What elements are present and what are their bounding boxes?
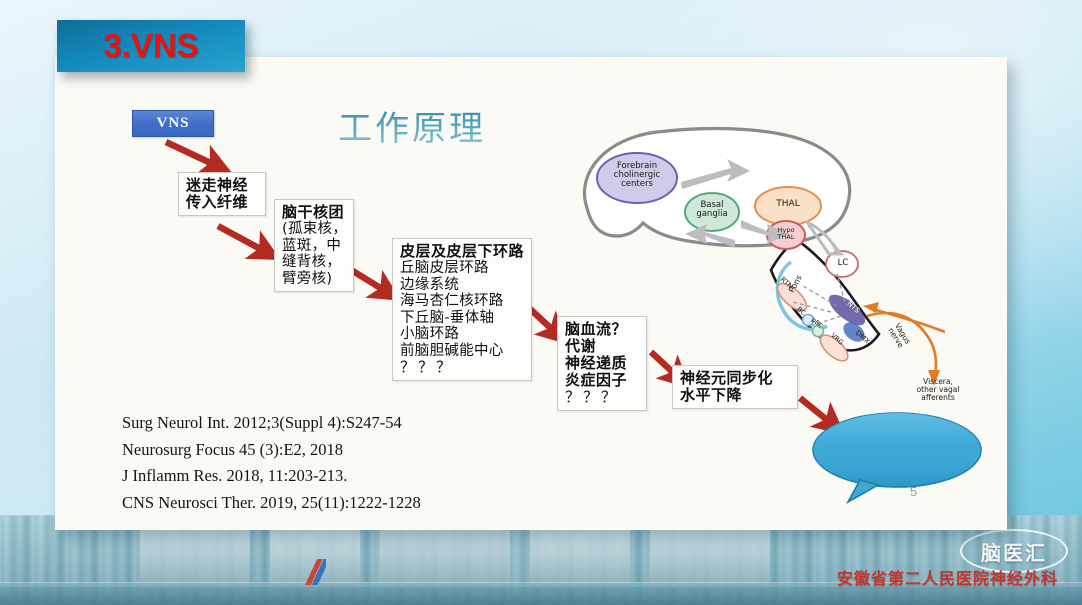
box-line: ？？？: [565, 389, 639, 406]
box-neuronal-synchrony[interactable]: 神经元同步化 水平下降: [672, 365, 798, 409]
flag-icon: [300, 559, 326, 585]
section-tab-label: 3.VNS: [103, 27, 198, 65]
box-brainstem-nuclei[interactable]: 脑干核团 (孤束核， 蓝斑，中 缝背核， 臂旁核): [274, 199, 354, 292]
box-line: 小脑环路: [400, 326, 524, 343]
vns-start-label: VNS: [156, 115, 189, 132]
section-tab-vns[interactable]: 3.VNS: [57, 20, 245, 72]
box-line: 边缘系统: [400, 277, 524, 294]
box-line: 蓝斑，中: [282, 238, 346, 255]
box-line: 下丘脑-垂体轴: [400, 310, 524, 327]
building-block-5: [650, 521, 770, 589]
reference-item: Surg Neurol Int. 2012;3(Suppl 4):S247-54: [122, 410, 421, 437]
box-line: 代谢: [565, 338, 639, 355]
box-line: ？？？: [400, 359, 524, 376]
box-vagal-afferent-fibers[interactable]: 迷走神经 传入纤维: [178, 172, 266, 216]
box-line: 海马杏仁核环路: [400, 293, 524, 310]
bc-nucleus: [803, 315, 814, 326]
reference-item: J Inflamm Res. 2018, 11:203-213.: [122, 463, 421, 490]
reference-item: CNS Neurosci Ther. 2019, 25(11):1222-122…: [122, 490, 421, 517]
box-line: (孤束核，: [282, 221, 346, 238]
forebrain-cholinergic-ellipse: [597, 153, 677, 203]
box-cortical-subcortical-circuits[interactable]: 皮层及皮层下环路 丘脑皮层环路 边缘系统 海马杏仁核环路 下丘脑-垂体轴 小脑环…: [392, 238, 532, 381]
box-line: 传入纤维: [186, 194, 258, 211]
callout-tail: [848, 480, 878, 502]
box-mechanisms[interactable]: 脑血流？ 代谢 神经递质 炎症因子 ？？？: [557, 316, 647, 411]
callout-gradient: [813, 413, 981, 487]
box-line: 迷走神经: [186, 177, 258, 194]
pbc-nucleus: [813, 326, 824, 337]
hospital-name-watermark: 安徽省第二人民医院神经外科: [837, 565, 1058, 589]
vagus-nerve-afferent: [869, 308, 945, 332]
box-line: 水平下降: [680, 387, 790, 404]
box-line: 臂旁核): [282, 271, 346, 288]
vns-start-box[interactable]: VNS: [132, 110, 214, 137]
slide-title: 工作原理: [338, 101, 486, 150]
box-line: 丘脑皮层环路: [400, 260, 524, 277]
box-line: 脑干核团: [282, 204, 346, 221]
box-line: 缝背核，: [282, 254, 346, 271]
box-line: 皮层及皮层下环路: [400, 243, 524, 260]
box-line: 前脑胆碱能中心: [400, 343, 524, 360]
box-line: 神经递质: [565, 355, 639, 372]
box-line: 神经元同步化: [680, 370, 790, 387]
vagus-nerve-efferent: [867, 313, 936, 378]
callout-bubble-svg: [812, 412, 982, 504]
vagus-efferent-arrowhead: [928, 370, 940, 386]
building-block-4: [530, 525, 630, 589]
callout-bubble[interactable]: [812, 412, 982, 504]
thalamus-ellipse: [755, 187, 821, 225]
references-list: Surg Neurol Int. 2012;3(Suppl 4):S247-54…: [122, 410, 421, 517]
box-line: 脑血流？: [565, 321, 639, 338]
box-line: 炎症因子: [565, 372, 639, 389]
reference-item: Neurosurg Focus 45 (3):E2, 2018: [122, 437, 421, 464]
